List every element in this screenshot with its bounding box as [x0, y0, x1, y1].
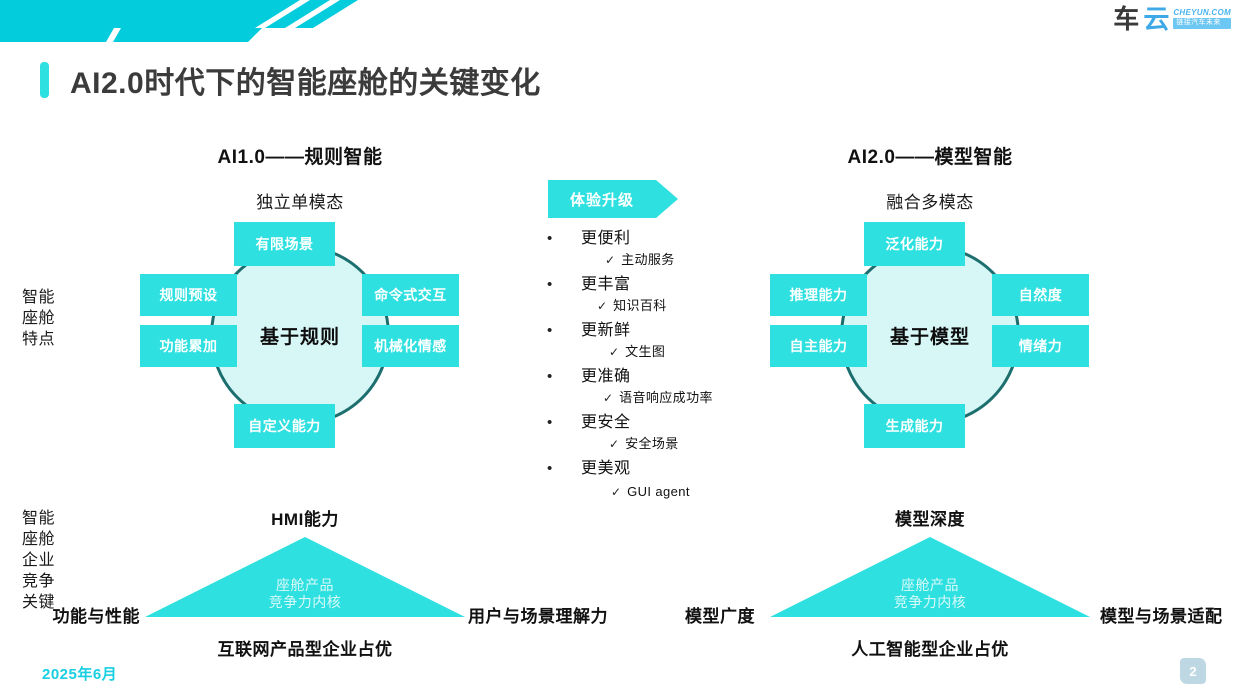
list-item: • 更丰富 ✓ 知识百科	[543, 270, 743, 314]
left-chip-left-top[interactable]: 规则预设	[140, 274, 237, 316]
right-section-subheading: 融合多模态	[780, 188, 1080, 213]
cheyun-logo: 车 云 CHEYUN.COM 链接汽车未来	[1113, 6, 1231, 32]
logo-char-che: 车	[1113, 6, 1138, 32]
bullet-dot-icon: •	[543, 277, 581, 292]
left-chip-right-top[interactable]: 命令式交互	[362, 274, 459, 316]
right-chip-left-top[interactable]: 推理能力	[770, 274, 867, 316]
page-number-badge: 2	[1180, 658, 1206, 684]
right-chip-right-bottom[interactable]: 情绪力	[992, 325, 1089, 367]
bullet-main-text: 更美观	[581, 454, 631, 478]
title-accent-bar	[40, 62, 49, 98]
bullet-main-text: 更安全	[581, 408, 631, 432]
header-band-shape	[0, 0, 1245, 42]
bullet-sub-row: ✓ 语音响应成功率	[543, 387, 743, 406]
bullet-sub-text: 安全场景	[625, 433, 679, 452]
left-section-subheading: 独立单模态	[150, 188, 450, 213]
list-item: • 更便利 ✓ 主动服务	[543, 224, 743, 268]
left-chip-left-bottom[interactable]: 功能累加	[140, 325, 237, 367]
right-chip-bottom[interactable]: 生成能力	[864, 404, 965, 448]
check-icon: ✓	[603, 391, 613, 405]
right-triangle-right-label: 模型与场景适配	[1100, 602, 1245, 627]
bullet-main-text: 更准确	[581, 362, 631, 386]
left-competition-triangle: HMI能力 座舱产品 竞争力内核 功能与性能 用户与场景理解力 互联网产品型企业…	[90, 505, 520, 640]
check-icon: ✓	[611, 485, 621, 499]
right-section-heading: AI2.0——模型智能	[780, 142, 1080, 169]
footer-date: 2025年6月	[42, 663, 117, 684]
left-triangle-bottom-label: 互联网产品型企业占优	[90, 635, 520, 660]
bullet-main-row: • 更美观	[543, 454, 743, 478]
slide-canvas: 车 云 CHEYUN.COM 链接汽车未来 AI2.0时代下的智能座舱的关键变化…	[0, 0, 1245, 698]
check-icon: ✓	[605, 253, 615, 267]
bullet-main-text: 更丰富	[581, 270, 631, 294]
bullet-main-row: • 更准确	[543, 362, 743, 386]
left-triangle-core-line1: 座舱产品	[145, 577, 465, 594]
left-chip-bottom[interactable]: 自定义能力	[234, 404, 335, 448]
bullet-dot-icon: •	[543, 369, 581, 384]
right-triangle-bottom-label: 人工智能型企业占优	[715, 635, 1145, 660]
list-item: • 更安全 ✓ 安全场景	[543, 408, 743, 452]
page-title: AI2.0时代下的智能座舱的关键变化	[40, 58, 541, 102]
bullet-sub-text: GUI agent	[627, 484, 690, 499]
title-text: AI2.0时代下的智能座舱的关键变化	[70, 58, 541, 102]
list-item: • 更美观 ✓ GUI agent	[543, 454, 743, 499]
right-chip-left-bottom[interactable]: 自主能力	[770, 325, 867, 367]
bullet-dot-icon: •	[543, 323, 581, 338]
logo-domain: CHEYUN.COM	[1173, 9, 1231, 17]
left-triangle-core-line2: 竞争力内核	[145, 594, 465, 611]
check-icon: ✓	[609, 437, 619, 451]
list-item: • 更准确 ✓ 语音响应成功率	[543, 362, 743, 406]
bullet-main-row: • 更丰富	[543, 270, 743, 294]
bullet-dot-icon: •	[543, 461, 581, 476]
left-triangle-left-label: 功能与性能	[10, 602, 140, 627]
right-triangle-core-label: 座舱产品 竞争力内核	[770, 577, 1090, 611]
side-label-line: 特点	[22, 329, 55, 350]
check-icon: ✓	[597, 299, 607, 313]
left-chip-right-bottom[interactable]: 机械化情感	[362, 325, 459, 367]
bullet-sub-row: ✓ 文生图	[543, 341, 743, 360]
right-capability-wheel: 基于模型 泛化能力 自然度 情绪力 生成能力 推理能力 自主能力	[770, 245, 1090, 505]
left-triangle-core-label: 座舱产品 竞争力内核	[145, 577, 465, 611]
bullet-dot-icon: •	[543, 415, 581, 430]
bullet-sub-row: ✓ GUI agent	[543, 484, 743, 499]
header-band: 车 云 CHEYUN.COM 链接汽车未来	[0, 0, 1245, 42]
right-triangle-left-label: 模型广度	[605, 602, 755, 627]
experience-upgrade-banner: 体验升级	[548, 180, 656, 218]
side-label-line: 智能	[22, 287, 55, 308]
bullet-main-text: 更便利	[581, 224, 631, 248]
right-competition-triangle: 模型深度 座舱产品 竞争力内核 模型广度 模型与场景适配 人工智能型企业占优	[715, 505, 1145, 640]
bullet-main-row: • 更新鲜	[543, 316, 743, 340]
arrow-head-icon	[656, 180, 678, 218]
bullet-sub-text: 文生图	[625, 341, 665, 360]
bullet-sub-row: ✓ 知识百科	[543, 295, 743, 314]
bullet-main-row: • 更便利	[543, 224, 743, 248]
left-chip-top[interactable]: 有限场景	[234, 222, 335, 266]
check-icon: ✓	[609, 345, 619, 359]
logo-char-yun: 云	[1143, 6, 1168, 32]
left-section-heading: AI1.0——规则智能	[150, 142, 450, 169]
side-label-line: 竞争	[22, 571, 55, 592]
bullet-main-row: • 更安全	[543, 408, 743, 432]
right-chip-right-top[interactable]: 自然度	[992, 274, 1089, 316]
side-label-line: 企业	[22, 550, 55, 571]
side-label-line: 座舱	[22, 308, 55, 329]
logo-wordmark: CHEYUN.COM 链接汽车未来	[1173, 9, 1231, 32]
right-triangle-core-line1: 座舱产品	[770, 577, 1090, 594]
right-triangle-core-line2: 竞争力内核	[770, 594, 1090, 611]
list-item: • 更新鲜 ✓ 文生图	[543, 316, 743, 360]
bullet-sub-text: 知识百科	[613, 295, 667, 314]
logo-tagline: 链接汽车未来	[1173, 18, 1231, 29]
side-label-cabin-features: 智能 座舱 特点	[22, 287, 55, 350]
right-chip-top[interactable]: 泛化能力	[864, 222, 965, 266]
bullet-main-text: 更新鲜	[581, 316, 631, 340]
side-label-line: 座舱	[22, 529, 55, 550]
bullet-sub-row: ✓ 主动服务	[543, 249, 743, 268]
left-capability-wheel: 基于规则 有限场景 命令式交互 机械化情感 自定义能力 规则预设 功能累加	[140, 245, 460, 505]
bullet-sub-text: 语音响应成功率	[619, 387, 713, 406]
bullet-dot-icon: •	[543, 231, 581, 246]
left-triangle-apex-label: HMI能力	[90, 505, 520, 530]
bullet-sub-row: ✓ 安全场景	[543, 433, 743, 452]
experience-upgrade-list: • 更便利 ✓ 主动服务 • 更丰富 ✓ 知识百科 • 更新鲜	[543, 224, 743, 501]
side-label-enterprise-competition: 智能 座舱 企业 竞争 关键	[22, 508, 55, 614]
bullet-sub-text: 主动服务	[621, 249, 675, 268]
side-label-line: 智能	[22, 508, 55, 529]
right-triangle-apex-label: 模型深度	[715, 505, 1145, 530]
